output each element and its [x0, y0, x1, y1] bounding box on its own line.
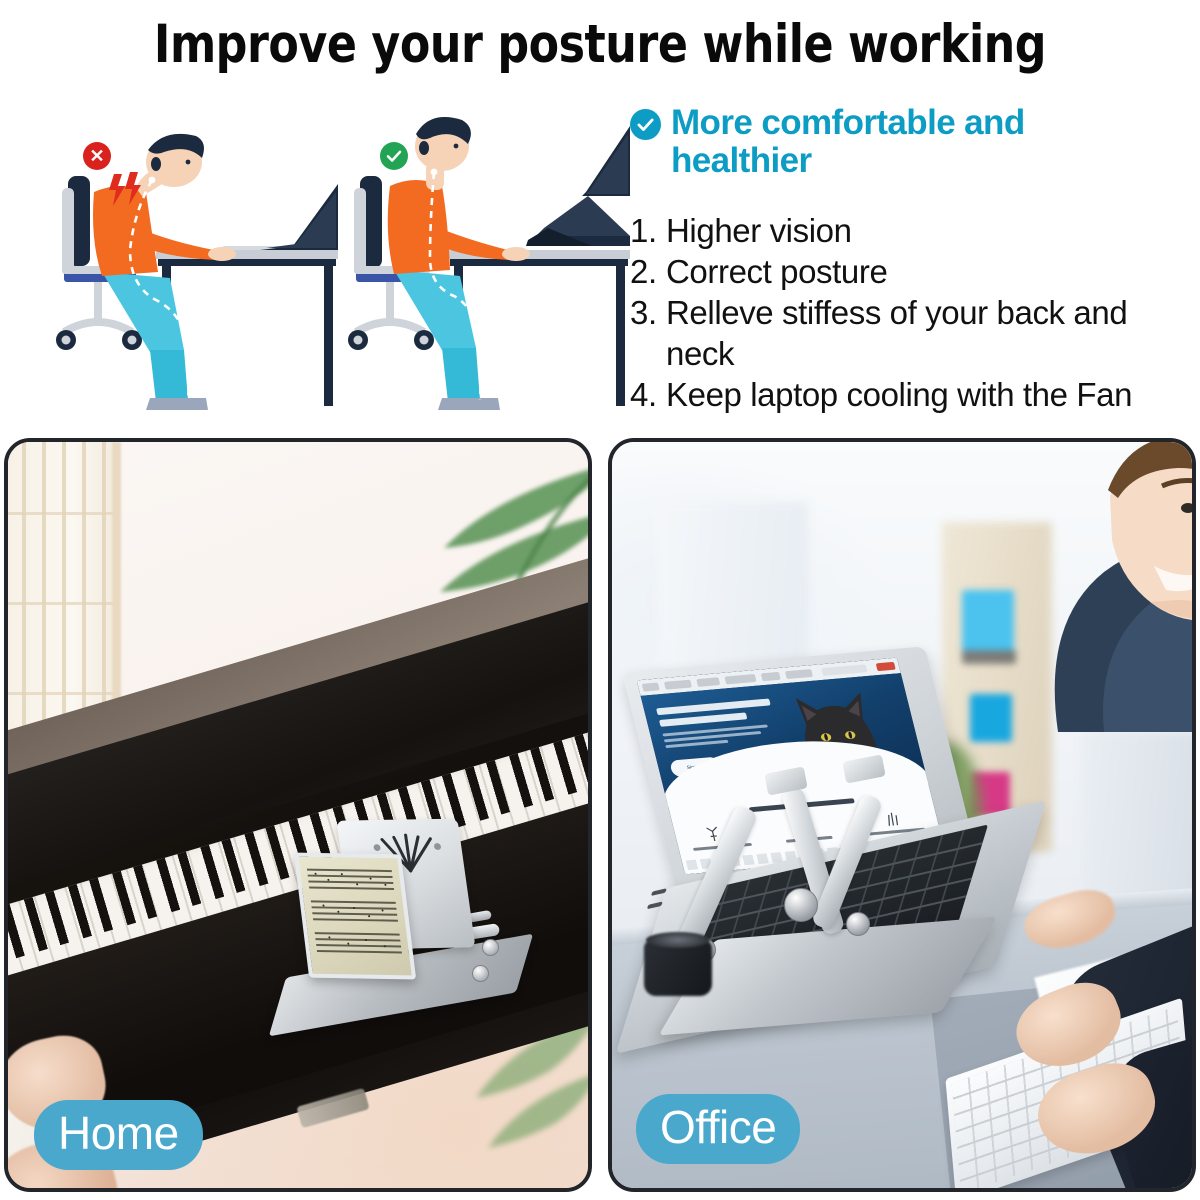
page-title: Improve your posture while working — [42, 14, 1158, 75]
tablet-stand — [276, 827, 566, 1042]
x-circle-icon: ✕ — [83, 142, 111, 170]
photo-panels: Home — [0, 438, 1200, 1194]
office-photo-panel: Sign up — [608, 438, 1196, 1192]
bad-posture-illustration: ✕ — [38, 100, 338, 430]
stand-pivot-hinge — [846, 912, 870, 936]
tablet-with-sheet-music — [294, 853, 416, 980]
list-item-label: Correct posture — [666, 251, 1196, 292]
check-circle-icon — [380, 142, 408, 170]
list-item-label: Keep laptop cooling with the Fan — [666, 374, 1196, 415]
check-circle-icon — [630, 109, 661, 140]
list-item: 1. Higher vision — [630, 210, 1196, 251]
good-posture-figure — [330, 100, 630, 430]
home-photo: Home — [8, 442, 588, 1188]
benefits-heading-text: More comfortable and healthier — [671, 104, 1141, 180]
good-posture-illustration — [330, 100, 630, 430]
list-item: 3. Relleve stiffess of your back and nec… — [630, 292, 1196, 374]
laptop-stand — [668, 762, 1008, 1042]
list-item-number: 3. — [630, 292, 666, 333]
office-badge: Office — [636, 1094, 800, 1164]
list-item: 4. Keep laptop cooling with the Fan — [630, 374, 1196, 415]
desk-organizer-top — [646, 932, 710, 948]
office-photo: Sign up — [612, 442, 1192, 1188]
home-badge: Home — [34, 1100, 203, 1170]
benefits-list: 1. Higher vision 2. Correct posture 3. R… — [630, 210, 1196, 415]
sticky-note — [962, 590, 1014, 652]
desk-organizer — [644, 940, 712, 996]
list-item-label: Relleve stiffess of your back and neck — [666, 292, 1196, 374]
list-item-number: 2. — [630, 251, 666, 292]
benefits-heading: More comfortable and healthier — [630, 104, 1196, 180]
list-item-number: 4. — [630, 374, 666, 415]
pain-bolts-icon — [106, 172, 152, 212]
list-item-number: 1. — [630, 210, 666, 251]
bad-posture-figure — [38, 100, 338, 430]
posture-illustration-group: ✕ — [0, 100, 620, 430]
stand-center-hinge — [784, 888, 818, 922]
stand-hinge-knob — [482, 939, 499, 956]
list-item-label: Higher vision — [666, 210, 1196, 251]
stand-hinge-knob — [472, 965, 489, 982]
list-item: 2. Correct posture — [630, 251, 1196, 292]
benefits-panel: More comfortable and healthier 1. Higher… — [630, 104, 1196, 415]
home-photo-panel: Home — [4, 438, 592, 1192]
